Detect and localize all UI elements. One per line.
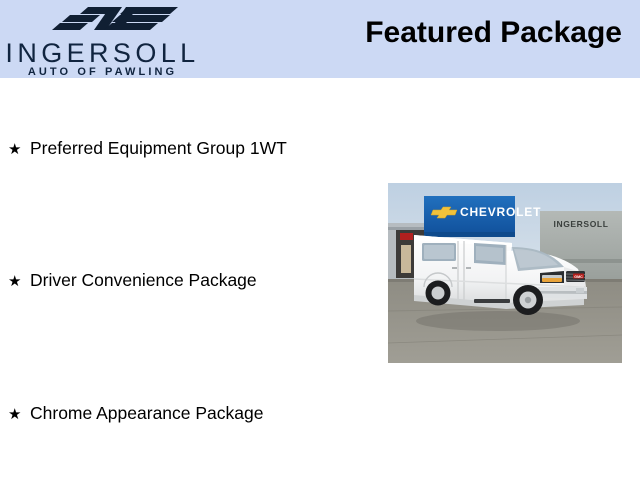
dealer-sign-text: CHEVROLET xyxy=(460,205,541,219)
rear-wheel xyxy=(426,281,451,306)
ingersoll-swoosh-logo-mark xyxy=(50,5,180,38)
gmc-badge-text: GMC xyxy=(574,275,583,279)
list-item: ★ Driver Convenience Package xyxy=(8,272,257,290)
vehicle-photo: INGERSOLL CHEVROLET xyxy=(388,183,622,363)
star-bullet-icon: ★ xyxy=(8,142,30,157)
feature-label: Driver Convenience Package xyxy=(30,272,257,290)
dealer-logo-subwordmark: AUTO OF PAWLING xyxy=(0,67,205,78)
building-sign-text: INGERSOLL xyxy=(554,219,609,229)
dealer-logo[interactable]: INGERSOLL AUTO OF PAWLING xyxy=(0,2,210,78)
feature-list: ★ Preferred Equipment Group 1WT ★ Driver… xyxy=(0,78,380,480)
star-bullet-icon: ★ xyxy=(8,407,30,422)
star-bullet-icon: ★ xyxy=(8,274,30,289)
list-item: ★ Preferred Equipment Group 1WT xyxy=(8,140,287,158)
svg-text:INGERSOLL: INGERSOLL xyxy=(554,219,609,229)
page-title: Featured Package xyxy=(365,16,622,50)
list-item: ★ Chrome Appearance Package xyxy=(8,405,263,423)
feature-label: Preferred Equipment Group 1WT xyxy=(30,140,287,158)
dealer-logo-wordmark: INGERSOLL xyxy=(0,40,205,67)
feature-label: Chrome Appearance Package xyxy=(30,405,263,423)
